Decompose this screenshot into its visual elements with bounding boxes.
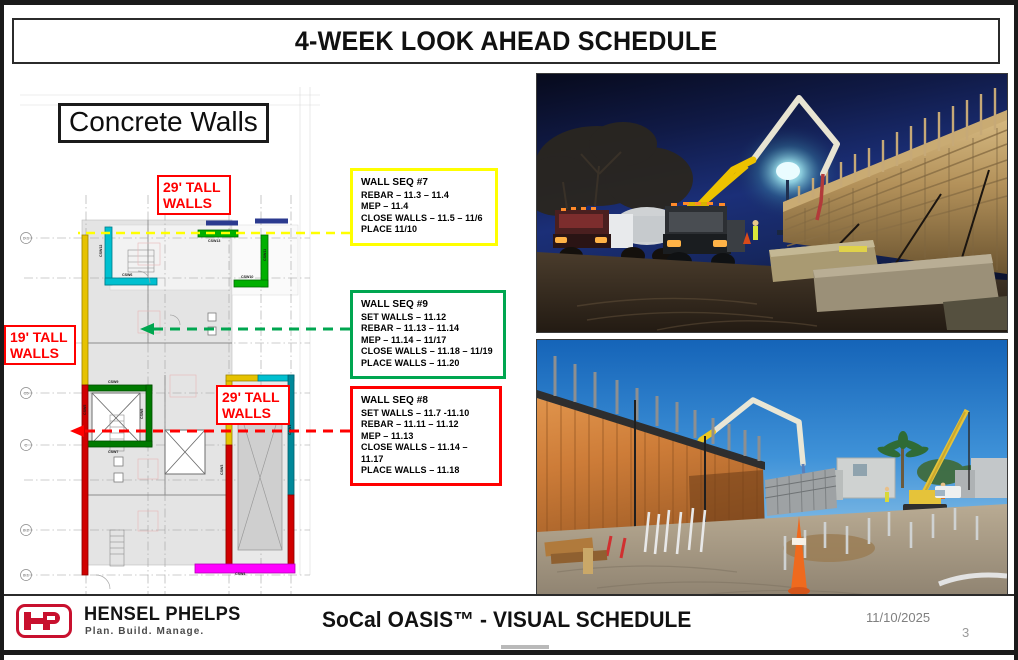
callout-line: PLACE WALLS – 11.18 — [361, 465, 492, 476]
callout-line: MEP – 11.4 — [361, 201, 488, 212]
callout-line: CLOSE WALLS – 11.18 – 11/19 — [361, 346, 496, 357]
callout-header: WALL SEQ #9 — [361, 299, 496, 310]
callout-line: REBAR – 11.13 – 11.14 — [361, 323, 496, 334]
callout-line: SET WALLS – 11.7 -11.10 — [361, 408, 492, 419]
callout-line: REBAR – 11.11 – 11.12 — [361, 419, 492, 430]
callout-line: MEP – 11.13 — [361, 431, 492, 442]
red-leader-arrow — [70, 425, 84, 437]
callout-line: CLOSE WALLS – 11.14 – 11.17 — [361, 442, 492, 465]
slide: 4-WEEK LOOK AHEAD SCHEDULE — [0, 0, 1018, 655]
callout-header: WALL SEQ #8 — [361, 395, 492, 406]
callout-line: PLACE WALLS – 11.20 — [361, 358, 496, 369]
callout-connectors — [0, 5, 1018, 660]
callout-header: WALL SEQ #7 — [361, 177, 488, 188]
green-leader-arrow — [140, 323, 154, 335]
callout-line: SET WALLS – 11.12 — [361, 312, 496, 323]
callout-line: CLOSE WALLS – 11.5 – 11/6 — [361, 213, 488, 224]
callout-wall-seq-8[interactable]: WALL SEQ #8 SET WALLS – 11.7 -11.10 REBA… — [350, 386, 502, 486]
callout-wall-seq-9[interactable]: WALL SEQ #9 SET WALLS – 11.12 REBAR – 11… — [350, 290, 506, 379]
callout-line: REBAR – 11.3 – 11.4 — [361, 190, 488, 201]
callout-line: MEP – 11.14 – 11/17 — [361, 335, 496, 346]
callout-wall-seq-7[interactable]: WALL SEQ #7 REBAR – 11.3 – 11.4 MEP – 11… — [350, 168, 498, 246]
callout-line: PLACE 11/10 — [361, 224, 488, 235]
